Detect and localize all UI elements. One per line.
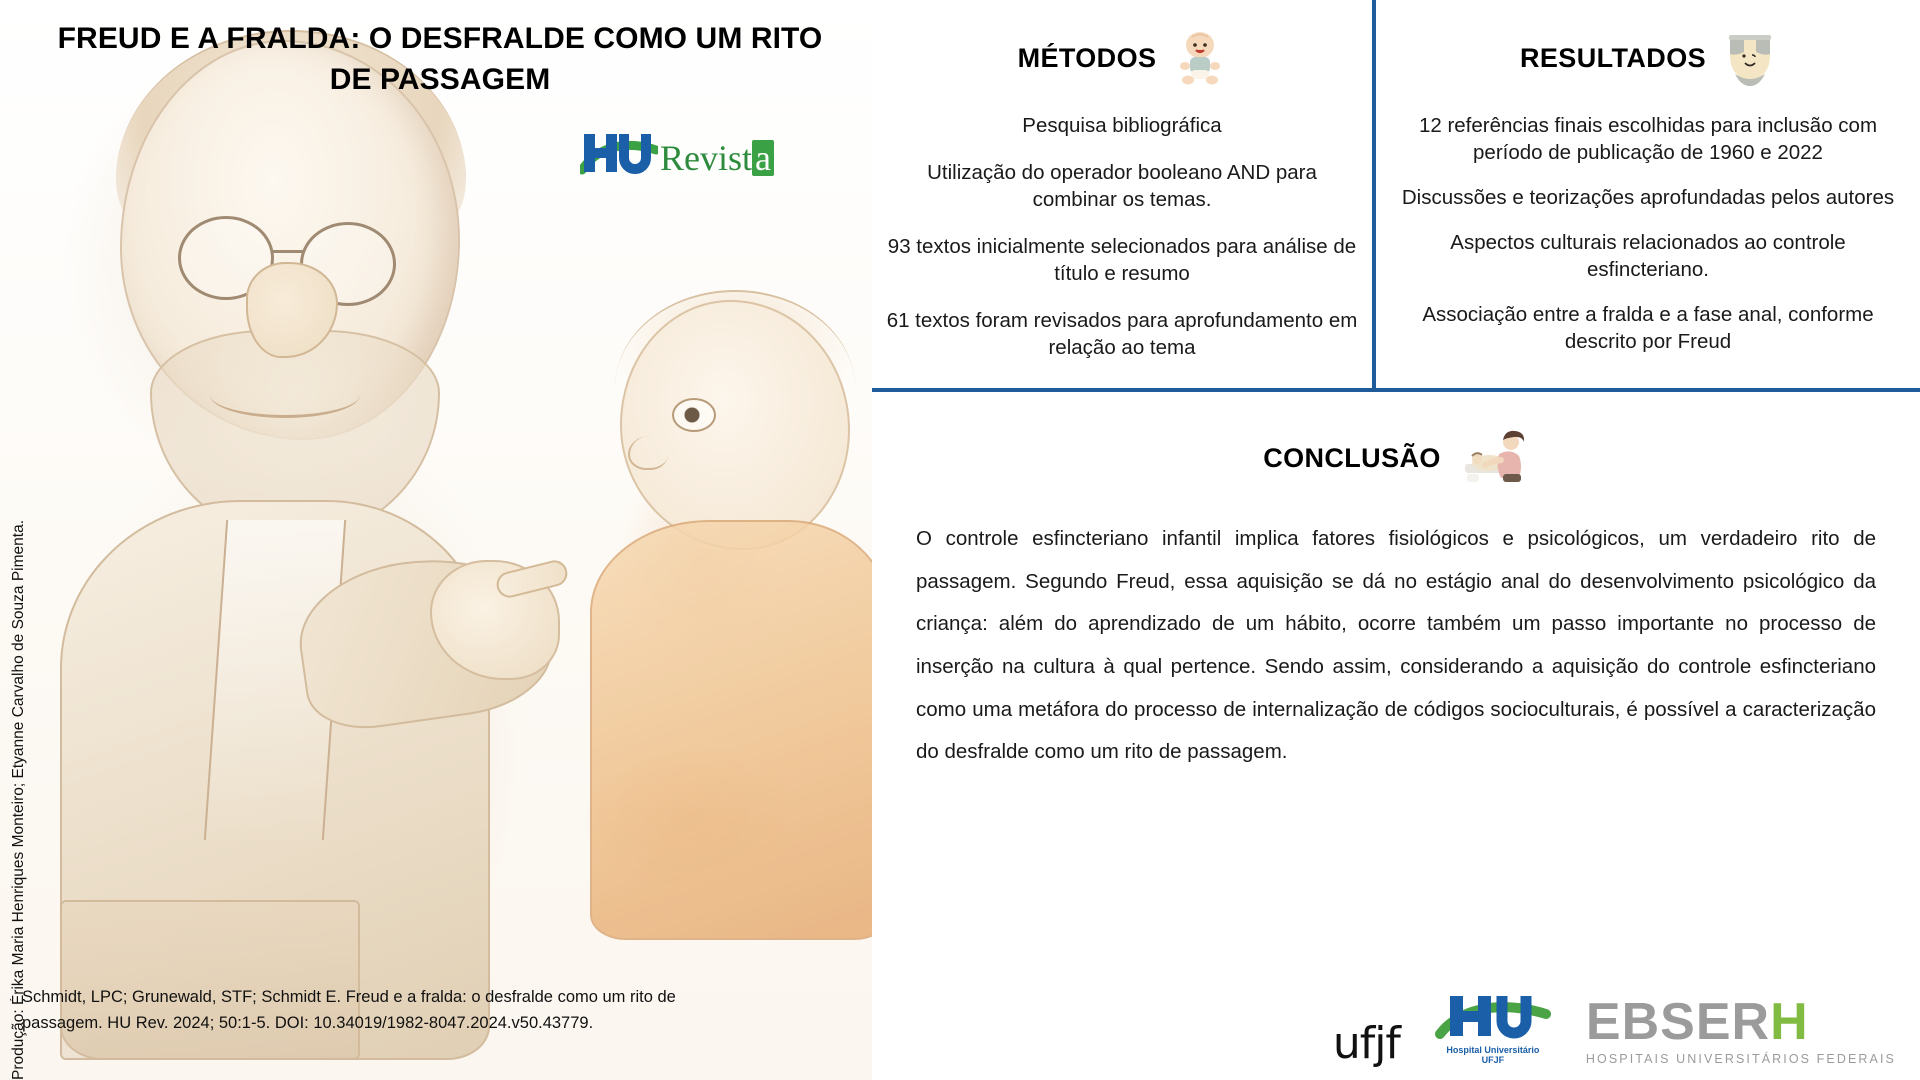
hu-revista-hu-mark-icon xyxy=(580,130,658,176)
list-item: 12 referências finais escolhidas para in… xyxy=(1390,112,1906,166)
production-credit: Produção: Érika Maria Henriques Monteiro… xyxy=(4,0,34,1080)
resultados-heading: RESULTADOS xyxy=(1520,43,1706,74)
baby-icon xyxy=(1174,30,1226,86)
list-item: Utilização do operador booleano AND para… xyxy=(886,159,1358,213)
list-item: Aspectos culturais relacionados ao contr… xyxy=(1390,229,1906,283)
conclusao-header: CONCLUSÃO xyxy=(872,428,1920,488)
page-title: FREUD E A FRALDA: O DESFRALDE COMO UM RI… xyxy=(40,18,840,101)
ebserh-word-gray: EBSER xyxy=(1586,993,1770,1051)
hu-revista-a-box: a xyxy=(752,140,774,176)
metodos-header: MÉTODOS xyxy=(872,30,1372,86)
hu-caption-line1: Hospital Universitário xyxy=(1434,1045,1552,1055)
left-illustration-panel: Produção: Érika Maria Henriques Monteiro… xyxy=(0,0,872,1080)
section-conclusao: CONCLUSÃO O contr xyxy=(872,392,1920,774)
citation-text: Schmidt, LPC; Grunewald, STF; Schmidt E.… xyxy=(22,985,722,1036)
child-eye-shape xyxy=(672,398,716,432)
list-item: 93 textos inicialmente selecionados para… xyxy=(886,233,1358,287)
diaper-icon xyxy=(1724,30,1776,86)
right-content-panel: MÉTODOS xyxy=(872,0,1920,1080)
child-nose-shape xyxy=(628,436,668,470)
hu-ufjf-logo: Hospital Universitário UFJF xyxy=(1434,992,1552,1066)
section-metodos: MÉTODOS xyxy=(872,0,1372,381)
section-resultados: RESULTADOS 12 referências finais e xyxy=(1376,0,1920,373)
hu-mark-icon xyxy=(1434,1027,1552,1044)
list-item: Associação entre a fralda e a fase anal,… xyxy=(1390,301,1906,355)
ufjf-logo: ufjf xyxy=(1333,1022,1400,1066)
conclusao-heading: CONCLUSÃO xyxy=(1263,443,1441,474)
freud-glasses-bridge xyxy=(272,250,304,253)
resultados-header: RESULTADOS xyxy=(1376,30,1920,86)
resultados-bullets: 12 referências finais escolhidas para in… xyxy=(1376,112,1920,355)
metodos-heading: MÉTODOS xyxy=(1018,43,1157,74)
production-credit-text: Produção: Érika Maria Henriques Monteiro… xyxy=(10,360,28,1080)
poster-root: Produção: Érika Maria Henriques Monteiro… xyxy=(0,0,1920,1080)
ebserh-wordmark: EBSERH xyxy=(1586,996,1896,1048)
freud-mouth-shape xyxy=(210,372,360,418)
hu-revista-word: Revist xyxy=(660,138,752,178)
hu-revista-wordmark: Revista xyxy=(660,140,774,176)
child-body-shape xyxy=(590,520,872,940)
ebserh-word-green: H xyxy=(1770,993,1809,1051)
ebserh-logo: EBSERH HOSPITAIS UNIVERSITÁRIOS FEDERAIS xyxy=(1586,996,1896,1066)
footer-logos: ufjf Hospital Universitário UFJF EBSERH xyxy=(872,992,1920,1066)
conclusao-body-text: O controle esfincteriano infantil implic… xyxy=(916,518,1876,774)
list-item: Pesquisa bibliográfica xyxy=(886,112,1358,139)
ebserh-subtitle: HOSPITAIS UNIVERSITÁRIOS FEDERAIS xyxy=(1586,1052,1896,1066)
list-item: 61 textos foram revisados para aprofunda… xyxy=(886,307,1358,361)
mother-changing-baby-icon xyxy=(1459,428,1529,488)
metodos-bullets: Pesquisa bibliográfica Utilização do ope… xyxy=(872,112,1372,361)
hu-revista-logo: Revista xyxy=(580,128,774,176)
list-item: Discussões e teorizações aprofundadas pe… xyxy=(1390,184,1906,211)
hu-caption-line2: UFJF xyxy=(1434,1055,1552,1065)
